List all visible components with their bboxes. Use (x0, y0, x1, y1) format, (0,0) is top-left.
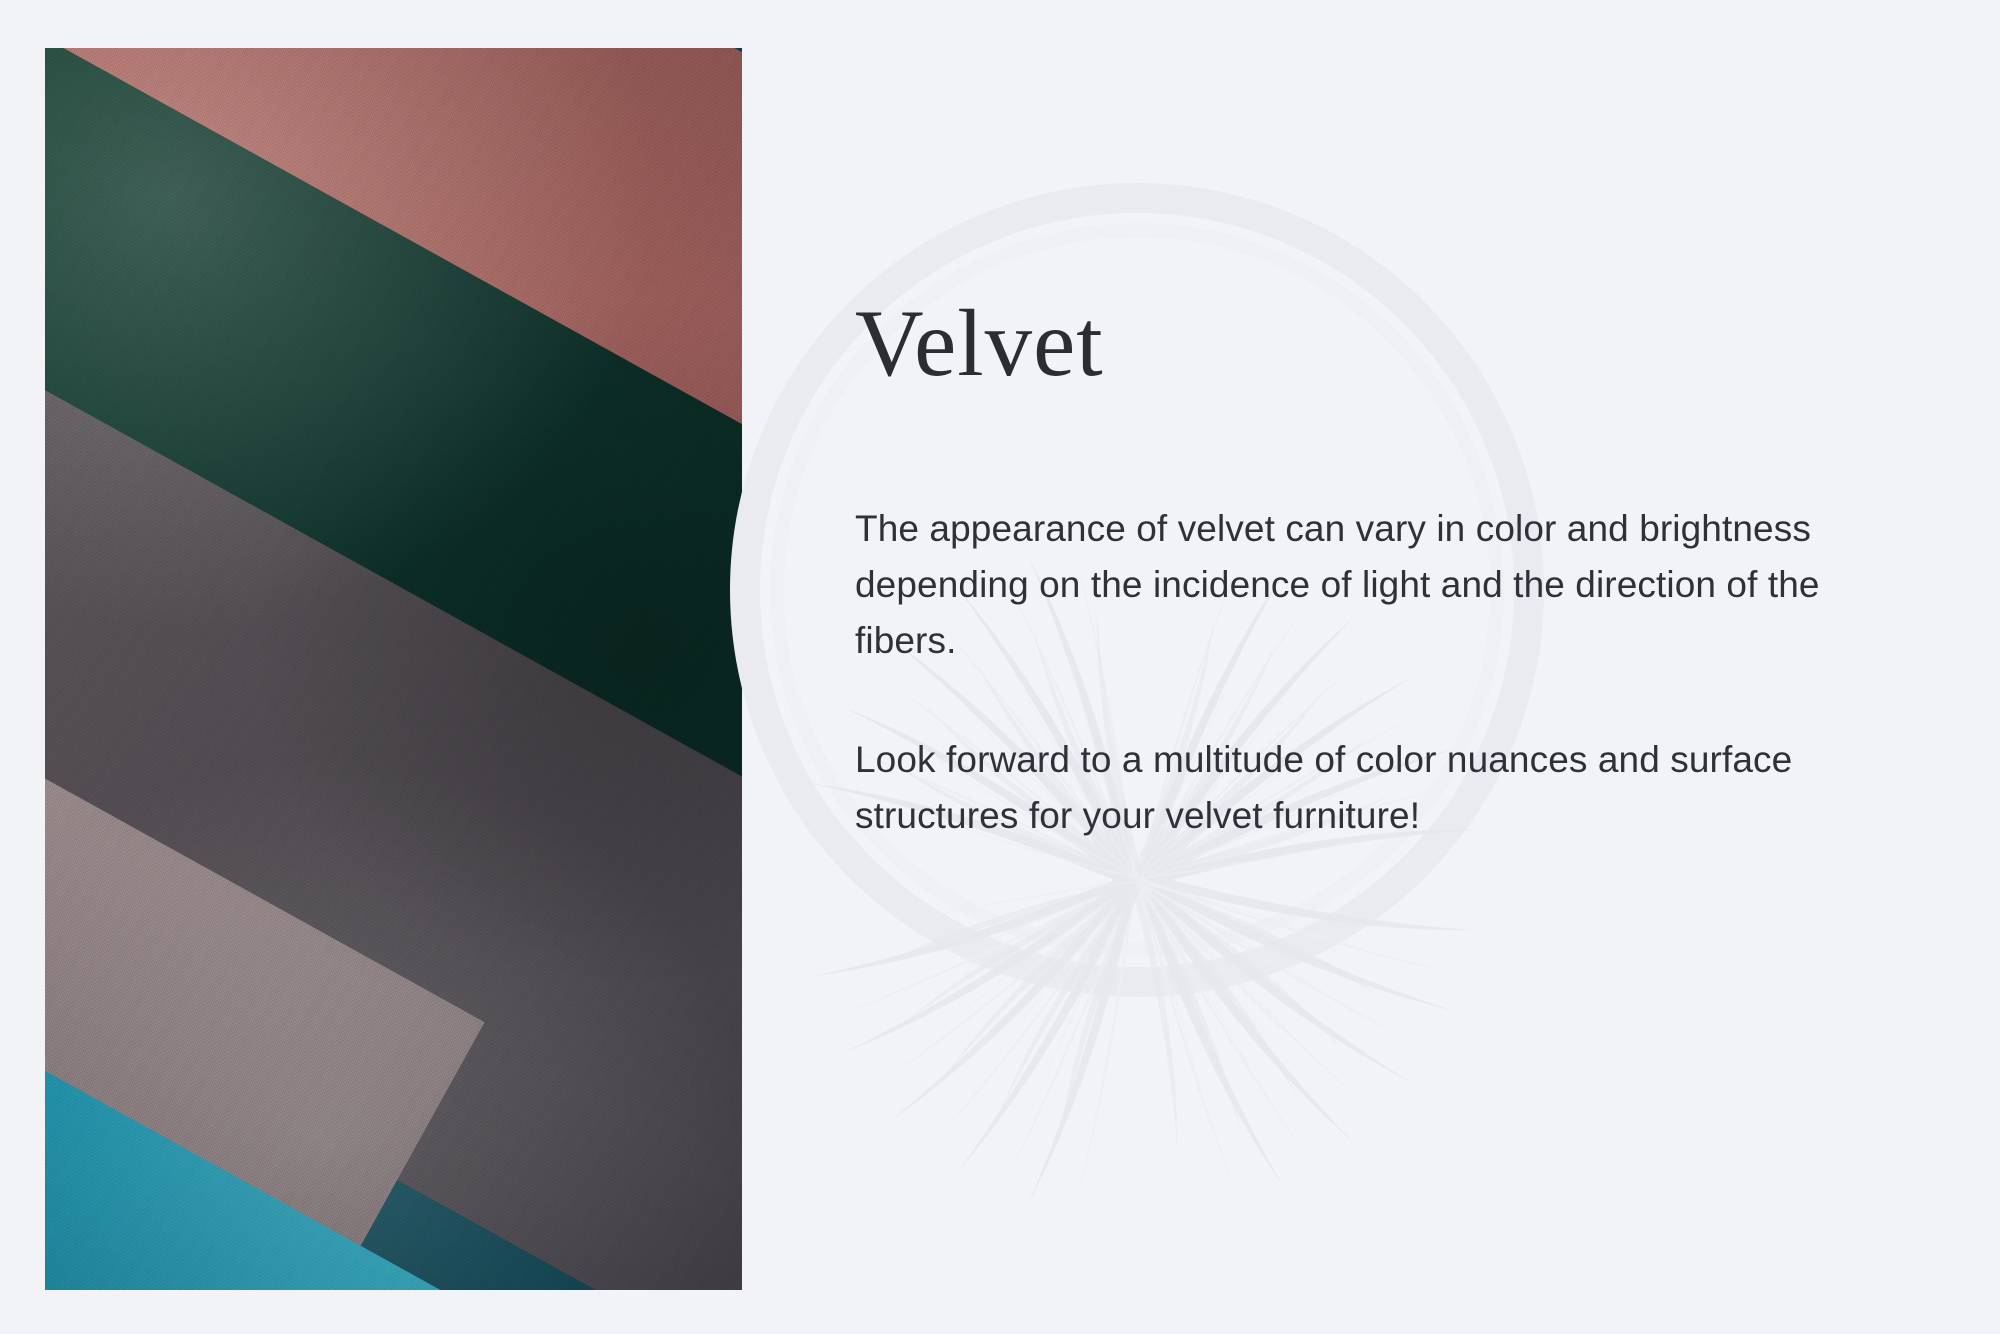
watermark-fan-lower (808, 796, 1475, 1210)
page-title: Velvet (855, 296, 1915, 391)
velvet-fabric-image (45, 48, 742, 1290)
body-paragraph-1: The appearance of velvet can vary in col… (855, 501, 1915, 670)
text-block: Velvet The appearance of velvet can vary… (855, 296, 1915, 844)
content-column: Velvet The appearance of velvet can vary… (742, 0, 2000, 1334)
velvet-feature-section: Velvet The appearance of velvet can vary… (0, 0, 2000, 1334)
body-paragraph-2: Look forward to a multitude of color nua… (855, 732, 1915, 844)
